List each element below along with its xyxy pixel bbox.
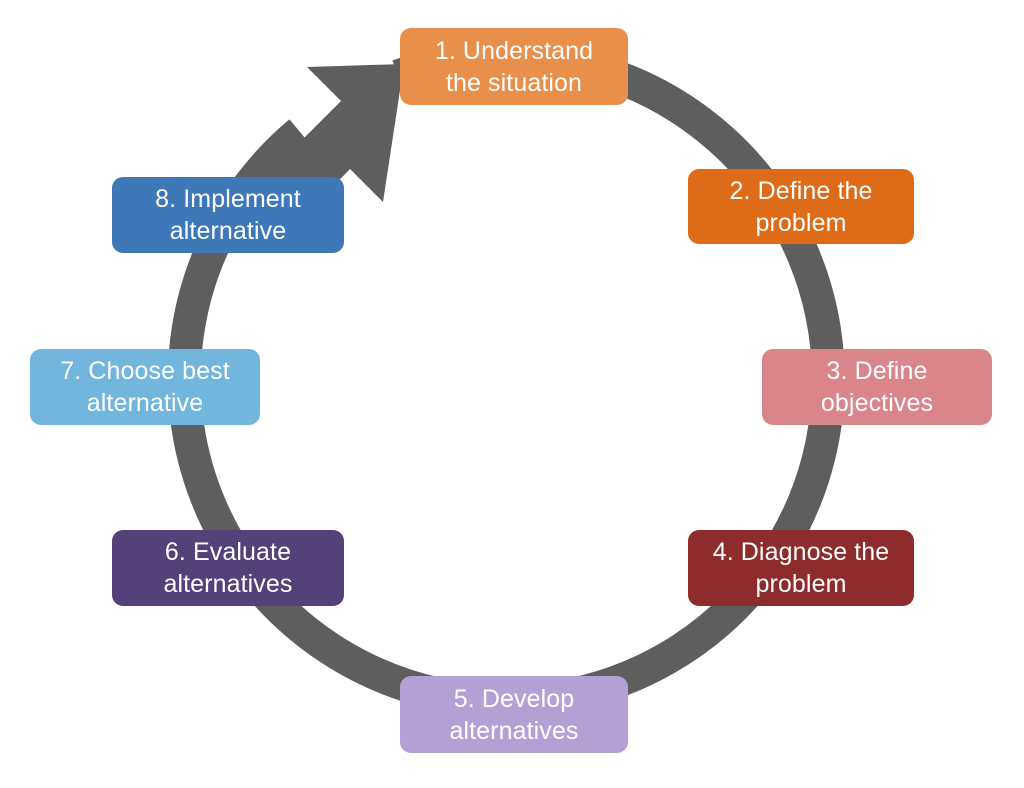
step-label-2: 2. Define the problem (729, 175, 872, 239)
step-box-2[interactable]: 2. Define the problem (688, 169, 914, 244)
step-box-3[interactable]: 3. Define objectives (762, 349, 992, 425)
step-box-1[interactable]: 1. Understand the situation (400, 28, 628, 105)
step-label-5: 5. Develop alternatives (449, 683, 578, 747)
step-label-6: 6. Evaluate alternatives (163, 536, 292, 600)
step-box-7[interactable]: 7. Choose best alternative (30, 349, 260, 425)
step-label-4: 4. Diagnose the problem (713, 536, 890, 600)
step-box-5[interactable]: 5. Develop alternatives (400, 676, 628, 753)
step-box-8[interactable]: 8. Implement alternative (112, 177, 344, 253)
step-label-7: 7. Choose best alternative (60, 355, 230, 419)
diagram-canvas: 1. Understand the situation 2. Define th… (0, 0, 1024, 788)
step-label-1: 1. Understand the situation (435, 35, 593, 99)
step-label-3: 3. Define objectives (821, 355, 933, 419)
step-label-8: 8. Implement alternative (155, 183, 301, 247)
step-box-6[interactable]: 6. Evaluate alternatives (112, 530, 344, 606)
step-box-4[interactable]: 4. Diagnose the problem (688, 530, 914, 606)
